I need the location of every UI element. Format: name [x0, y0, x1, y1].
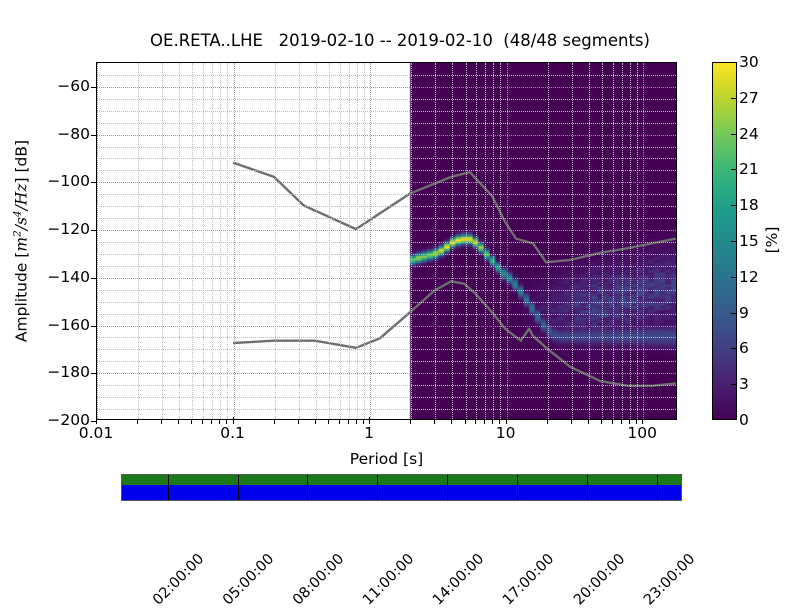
colorbar-tick-label: 15 [739, 232, 759, 250]
y-tick-label: −180 [47, 363, 90, 381]
grid-line-vertical [162, 63, 163, 419]
x-axis-ticks: 0.010.1110100 [96, 424, 677, 450]
x-tick-mark-minor [465, 420, 466, 424]
y-axis-unit-s-exp: 4 [11, 210, 23, 217]
x-tick-mark-minor [588, 420, 589, 424]
grid-line-horizontal-minor [97, 385, 676, 386]
x-tick-mark-minor [484, 420, 485, 424]
y-axis-ticks: −60−80−100−120−140−160−180−200 [30, 62, 90, 420]
y-axis-label: Amplitude [m2/s4/Hz] [dB] [11, 140, 30, 342]
y-tick-mark [91, 135, 97, 136]
colorbar-tick-label: 30 [739, 53, 759, 71]
colorbar-tick-mark [731, 205, 737, 206]
grid-line-horizontal-minor [97, 158, 676, 159]
colorbar-container[interactable]: 302724211815129630 [712, 62, 737, 420]
grid-line-vertical [452, 63, 453, 419]
coverage-time-label: 17:00:00 [500, 551, 557, 608]
x-tick-mark [642, 417, 643, 424]
grid-line-horizontal-minor [97, 111, 676, 112]
y-tick-label: −140 [47, 268, 90, 286]
grid-line-horizontal [97, 182, 676, 183]
grid-line-horizontal-minor [97, 314, 676, 315]
grid-line-vertical [485, 63, 486, 419]
grid-line-horizontal [97, 135, 676, 136]
x-tick-mark-minor [601, 420, 602, 424]
x-tick-mark-minor [612, 420, 613, 424]
y-tick-mark [91, 326, 97, 327]
colorbar-tick-label: 18 [739, 196, 759, 214]
coverage-band-available [122, 475, 681, 485]
y-tick-label: −80 [57, 125, 90, 143]
x-tick-mark-minor [328, 420, 329, 424]
y-axis-label-text: Amplitude [ [13, 252, 31, 342]
grid-line-vertical [192, 63, 193, 419]
x-tick-mark-minor [219, 420, 220, 424]
x-tick-mark-minor [621, 420, 622, 424]
grid-line-vertical [275, 63, 276, 419]
colorbar-tick-label: 9 [739, 304, 749, 322]
grid-line-vertical [466, 63, 467, 419]
colorbar-tick-label: 21 [739, 160, 759, 178]
x-tick-mark-minor [137, 420, 138, 424]
x-tick-mark-minor [348, 420, 349, 424]
x-axis-label: Period [s] [96, 450, 677, 468]
coverage-time-label: 11:00:00 [360, 551, 417, 608]
coverage-band-psd [122, 485, 681, 500]
grid-line-vertical [622, 63, 623, 419]
grid-line-vertical [507, 63, 508, 419]
x-tick-mark-minor [315, 420, 316, 424]
data-coverage-bar[interactable] [121, 474, 682, 501]
colorbar-tick-label: 3 [739, 375, 749, 393]
colorbar-label: [%] [763, 227, 781, 254]
grid-line-vertical [613, 63, 614, 419]
x-tick-mark-minor [499, 420, 500, 424]
x-tick-mark-minor [571, 420, 572, 424]
grid-line-horizontal-minor [97, 206, 676, 207]
grid-line-horizontal-minor [97, 147, 676, 148]
grid-line-horizontal [97, 326, 676, 327]
x-tick-mark-minor [178, 420, 179, 424]
psd-plot-area[interactable] [96, 62, 677, 420]
coverage-tick-mark [238, 475, 239, 500]
coverage-tick-mark [307, 475, 308, 500]
y-axis-label-tail: ] [dB] [13, 140, 31, 184]
grid-line-vertical [370, 63, 371, 419]
y-tick-label: −120 [47, 220, 90, 238]
colorbar-tick-label: 6 [739, 339, 749, 357]
x-tick-mark-minor [298, 420, 299, 424]
x-tick-mark [369, 417, 370, 424]
grid-line-vertical [637, 63, 638, 419]
grid-line-vertical [316, 63, 317, 419]
x-tick-mark-minor [492, 420, 493, 424]
grid-line-horizontal-minor [97, 361, 676, 362]
y-axis-unit-slash: / [13, 205, 31, 210]
x-tick-label: 100 [627, 424, 657, 442]
grid-line-vertical [435, 63, 436, 419]
grid-line-vertical [602, 63, 603, 419]
grid-line-vertical [138, 63, 139, 419]
y-axis-unit-m: m [13, 237, 31, 252]
coverage-time-label: 23:00:00 [641, 551, 698, 608]
grid-line-horizontal [97, 278, 676, 279]
x-tick-label: 10 [496, 424, 516, 442]
coverage-tick-mark [517, 475, 518, 500]
x-tick-mark-minor [191, 420, 192, 424]
y-tick-mark [91, 278, 97, 279]
x-tick-mark-minor [451, 420, 452, 424]
grid-line-vertical [179, 63, 180, 419]
coverage-time-label: 02:00:00 [150, 551, 207, 608]
grid-line-horizontal [97, 87, 676, 88]
grid-line-horizontal-minor [97, 123, 676, 124]
x-tick-mark [96, 417, 97, 424]
grid-line-horizontal-minor [97, 218, 676, 219]
grid-line-horizontal-minor [97, 266, 676, 267]
grid-line-horizontal-minor [97, 75, 676, 76]
grid-line-vertical [227, 63, 228, 419]
grid-line-horizontal-minor [97, 170, 676, 171]
x-tick-label: 0.01 [79, 424, 114, 442]
grid-line-vertical [364, 63, 365, 419]
colorbar-label-container: [%] [760, 180, 784, 300]
x-tick-mark-minor [226, 420, 227, 424]
page-title: OE.RETA..LHE 2019-02-10 -- 2019-02-10 (4… [0, 31, 800, 50]
x-tick-mark [233, 417, 234, 424]
x-tick-mark [506, 417, 507, 424]
grid-line-horizontal-minor [97, 409, 676, 410]
x-tick-mark-minor [161, 420, 162, 424]
x-tick-mark-minor [629, 420, 630, 424]
grid-line-vertical [212, 63, 213, 419]
colorbar-tick-mark [731, 169, 737, 170]
grid-line-vertical [234, 63, 235, 419]
grid-line-vertical [500, 63, 501, 419]
coverage-time-label: 08:00:00 [290, 551, 347, 608]
y-tick-mark [91, 182, 97, 183]
grid-line-horizontal-minor [97, 254, 676, 255]
colorbar-tick-label: 0 [739, 411, 749, 429]
x-tick-mark-minor [363, 420, 364, 424]
x-tick-label: 1 [364, 424, 374, 442]
x-tick-mark-minor [274, 420, 275, 424]
grid-line-vertical [203, 63, 204, 419]
grid-line-vertical [493, 63, 494, 419]
x-tick-mark-minor [434, 420, 435, 424]
grid-line-horizontal-minor [97, 194, 676, 195]
grid-line-vertical [299, 63, 300, 419]
grid-line-vertical [411, 63, 412, 419]
grid-line-vertical [572, 63, 573, 419]
grid-line-vertical [329, 63, 330, 419]
coverage-tick-mark [587, 475, 588, 500]
y-axis-unit-s: /s [13, 217, 31, 230]
x-tick-mark-minor [339, 420, 340, 424]
colorbar-tick-mark [731, 384, 737, 385]
grid-line-horizontal-minor [97, 99, 676, 100]
y-axis-unit-hz: Hz [13, 183, 31, 205]
y-tick-mark [91, 87, 97, 88]
psd-plot-inner [97, 63, 676, 419]
grid-line-vertical [340, 63, 341, 419]
grid-line-vertical [589, 63, 590, 419]
coverage-tick-mark [657, 475, 658, 500]
colorbar-tick-label: 24 [739, 125, 759, 143]
x-tick-mark-minor [475, 420, 476, 424]
colorbar-tick-label: 27 [739, 89, 759, 107]
plot-canvas: OE.RETA..LHE 2019-02-10 -- 2019-02-10 (4… [0, 0, 800, 600]
colorbar-tick-mark [731, 348, 737, 349]
grid-line-horizontal-minor [97, 302, 676, 303]
colorbar-tick-mark [731, 241, 737, 242]
coverage-tick-mark [447, 475, 448, 500]
grid-line-vertical [220, 63, 221, 419]
grid-line-vertical [643, 63, 644, 419]
grid-line-horizontal-minor [97, 397, 676, 398]
x-tick-mark-minor [547, 420, 548, 424]
grid-line-vertical [476, 63, 477, 419]
colorbar-tick-mark [731, 277, 737, 278]
grid-line-horizontal-minor [97, 349, 676, 350]
grid-line-vertical [548, 63, 549, 419]
grid-line-horizontal [97, 230, 676, 231]
y-tick-mark [91, 373, 97, 374]
x-tick-mark-minor [202, 420, 203, 424]
grid-line-vertical [357, 63, 358, 419]
colorbar-tick-mark [731, 98, 737, 99]
y-tick-label: −100 [47, 172, 90, 190]
coverage-tick-mark [377, 475, 378, 500]
x-tick-mark-minor [211, 420, 212, 424]
x-tick-mark-minor [410, 420, 411, 424]
grid-line-horizontal-minor [97, 290, 676, 291]
y-axis-unit-m-exp: 2 [11, 230, 23, 237]
grid-line-vertical [97, 63, 98, 419]
grid-line-horizontal-minor [97, 242, 676, 243]
coverage-time-label: 05:00:00 [220, 551, 277, 608]
colorbar-tick-mark [731, 134, 737, 135]
grid-line-vertical [630, 63, 631, 419]
coverage-time-label: 20:00:00 [571, 551, 628, 608]
x-tick-mark-minor [636, 420, 637, 424]
y-tick-label: −160 [47, 316, 90, 334]
coverage-time-label: 14:00:00 [430, 551, 487, 608]
y-tick-mark [91, 230, 97, 231]
grid-line-horizontal [97, 373, 676, 374]
x-tick-label: 0.1 [220, 424, 245, 442]
coverage-time-ticks: 02:00:0005:00:0008:00:0011:00:0014:00:00… [121, 505, 682, 575]
grid-line-vertical [349, 63, 350, 419]
colorbar-tick-mark [731, 313, 737, 314]
x-tick-mark-minor [356, 420, 357, 424]
y-tick-label: −60 [57, 77, 90, 95]
colorbar-tick-label: 12 [739, 268, 759, 286]
coverage-tick-mark [168, 475, 169, 500]
grid-line-horizontal-minor [97, 337, 676, 338]
